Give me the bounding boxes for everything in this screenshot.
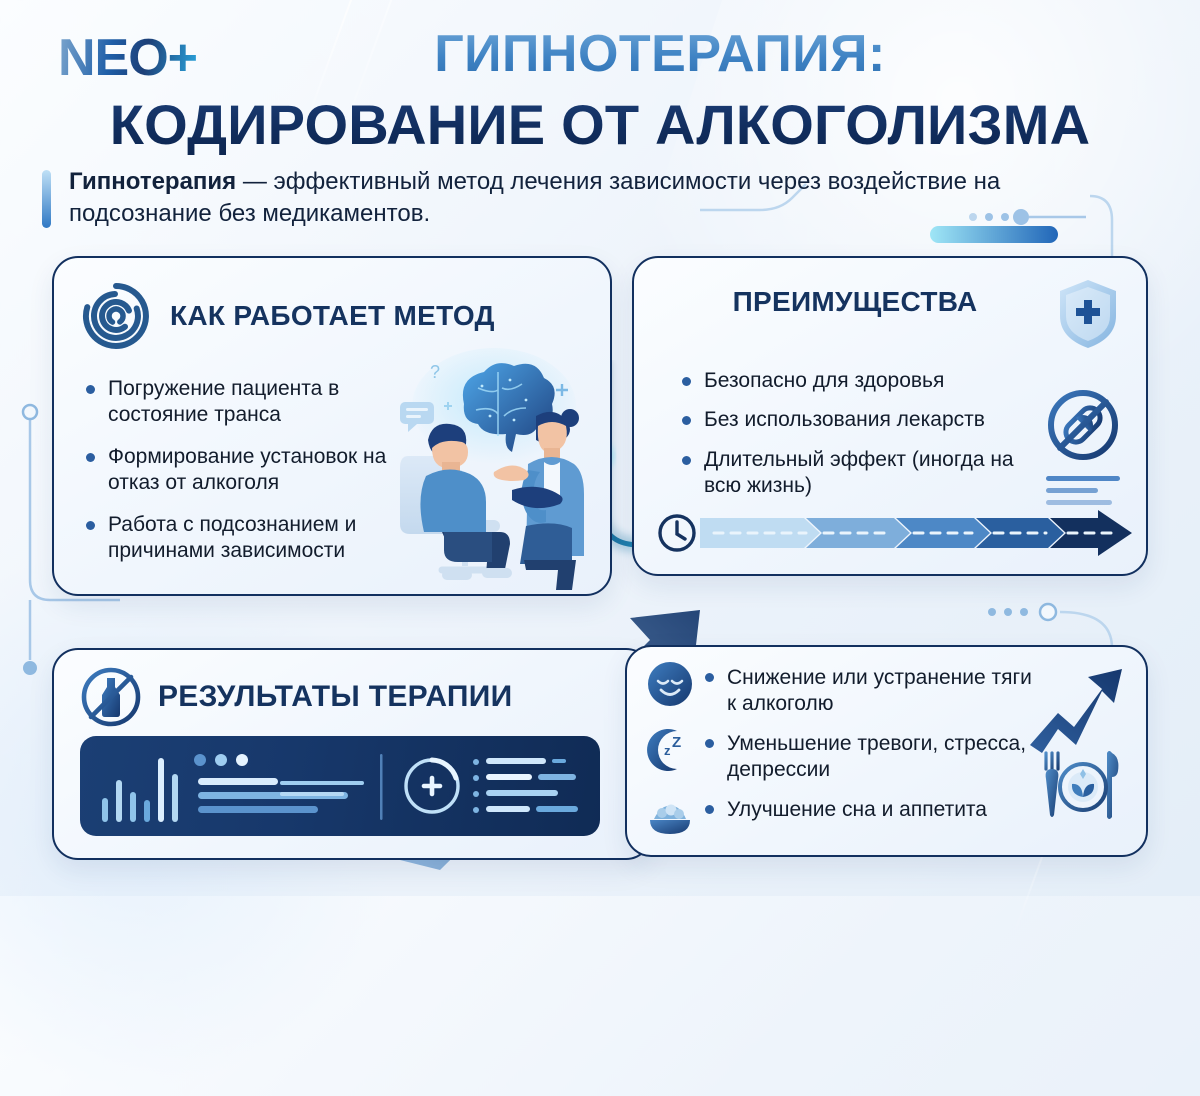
card-advantages-title: ПРЕИМУЩЕСТВА bbox=[733, 286, 978, 317]
card-therapy-results: РЕЗУЛЬТАТЫ ТЕРАПИИ bbox=[52, 648, 652, 860]
food-bowl-icon bbox=[645, 791, 695, 841]
results-dashboard-panel bbox=[80, 736, 600, 836]
outcome-text: Уменьшение тревоги, стресса, депрессии bbox=[705, 727, 1045, 783]
no-alcohol-bottle-icon bbox=[80, 666, 142, 728]
outcome-text: Улучшение сна и аппетита bbox=[705, 793, 987, 823]
decor-line bbox=[1046, 488, 1098, 493]
spiral-hypnosis-icon bbox=[80, 280, 152, 352]
list-item: Без использования лекарств bbox=[678, 407, 1038, 433]
card-method-title: КАК РАБОТАЕТ МЕТОД bbox=[170, 300, 495, 331]
decor-line bbox=[1046, 500, 1112, 505]
svg-text:?: ? bbox=[430, 362, 440, 382]
card-therapy-outcomes: Снижение или устранение тяги к алкоголю … bbox=[625, 645, 1148, 857]
list-item: Снижение или устранение тяги к алкоголю bbox=[645, 661, 1045, 717]
svg-text:Z: Z bbox=[672, 734, 681, 751]
page-header: NEO+ ГИПНОТЕРАПИЯ: КОДИРОВАНИЕ ОТ АЛКОГО… bbox=[0, 0, 1200, 160]
card-results-header: РЕЗУЛЬТАТЫ ТЕРАПИИ bbox=[80, 666, 512, 728]
advantages-bullet-list: Безопасно для здоровья Без использования… bbox=[678, 368, 1038, 513]
sleeping-moon-icon: z Z bbox=[645, 725, 695, 775]
page-title-line1: ГИПНОТЕРАПИЯ: bbox=[0, 24, 1200, 84]
list-item: Безопасно для здоровья bbox=[678, 368, 1038, 394]
therapy-session-illustration: ? bbox=[386, 344, 606, 594]
subtitle-accent-bar bbox=[42, 170, 51, 228]
subtitle-block: Гипнотерапия — эффективный метод лечения… bbox=[42, 166, 1112, 230]
decor-lines bbox=[1046, 476, 1120, 512]
svg-text:z: z bbox=[664, 743, 671, 758]
list-item: z Z Уменьшение тревоги, стресса, депресс… bbox=[645, 727, 1045, 783]
list-item: Улучшение сна и аппетита bbox=[645, 793, 1045, 841]
list-item: Длительный эффект (иногда на всю жизнь) bbox=[678, 447, 1038, 500]
outcome-text: Снижение или устранение тяги к алкоголю bbox=[705, 661, 1045, 717]
card-how-method-works: КАК РАБОТАЕТ МЕТОД Погружение пациента в… bbox=[52, 256, 612, 596]
card-results-title: РЕЗУЛЬТАТЫ ТЕРАПИИ bbox=[158, 680, 512, 714]
growth-arrow-icon bbox=[1028, 657, 1124, 753]
healthy-meal-icon bbox=[1038, 749, 1124, 821]
shield-plus-icon bbox=[1056, 278, 1120, 350]
subtitle-lead: Гипнотерапия bbox=[69, 168, 236, 195]
page-title-line2: КОДИРОВАНИЕ ОТ АЛКОГОЛИЗМА bbox=[0, 92, 1200, 157]
timeline-clock-icon bbox=[656, 510, 1134, 556]
subtitle-text: Гипнотерапия — эффективный метод лечения… bbox=[69, 166, 1112, 230]
dashboard-graphics bbox=[80, 736, 600, 836]
card-advantages: ПРЕИМУЩЕСТВА Безопасно для здоровья Без … bbox=[632, 256, 1148, 576]
no-pill-icon bbox=[1046, 388, 1120, 462]
calm-face-icon bbox=[645, 659, 695, 709]
card-method-header: КАК РАБОТАЕТ МЕТОД bbox=[80, 280, 495, 352]
decor-line bbox=[1046, 476, 1120, 481]
outcomes-list: Снижение или устранение тяги к алкоголю … bbox=[645, 661, 1045, 851]
